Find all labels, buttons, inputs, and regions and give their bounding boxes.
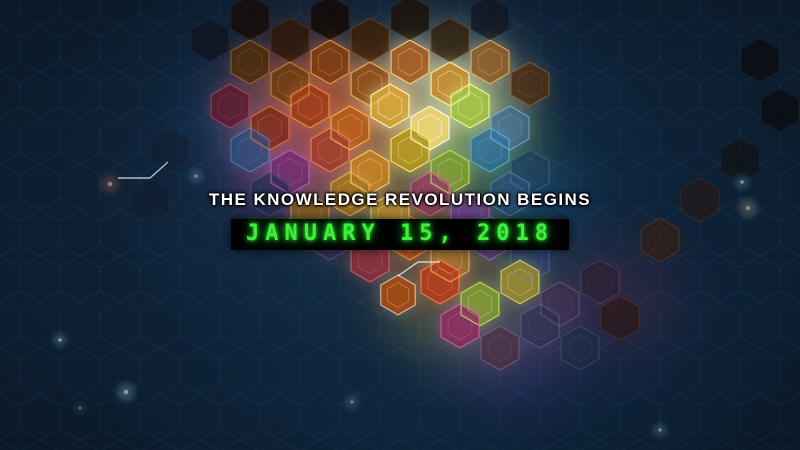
promo-banner: THE KNOWLEDGE REVOLUTION BEGINS JANUARY … [0, 0, 800, 450]
page-title: THE KNOWLEDGE REVOLUTION BEGINS [209, 190, 591, 210]
text-overlay: THE KNOWLEDGE REVOLUTION BEGINS JANUARY … [0, 0, 800, 450]
date-banner: JANUARY 15, 2018 [231, 219, 569, 250]
date-banner-text: JANUARY 15, 2018 [246, 223, 554, 245]
